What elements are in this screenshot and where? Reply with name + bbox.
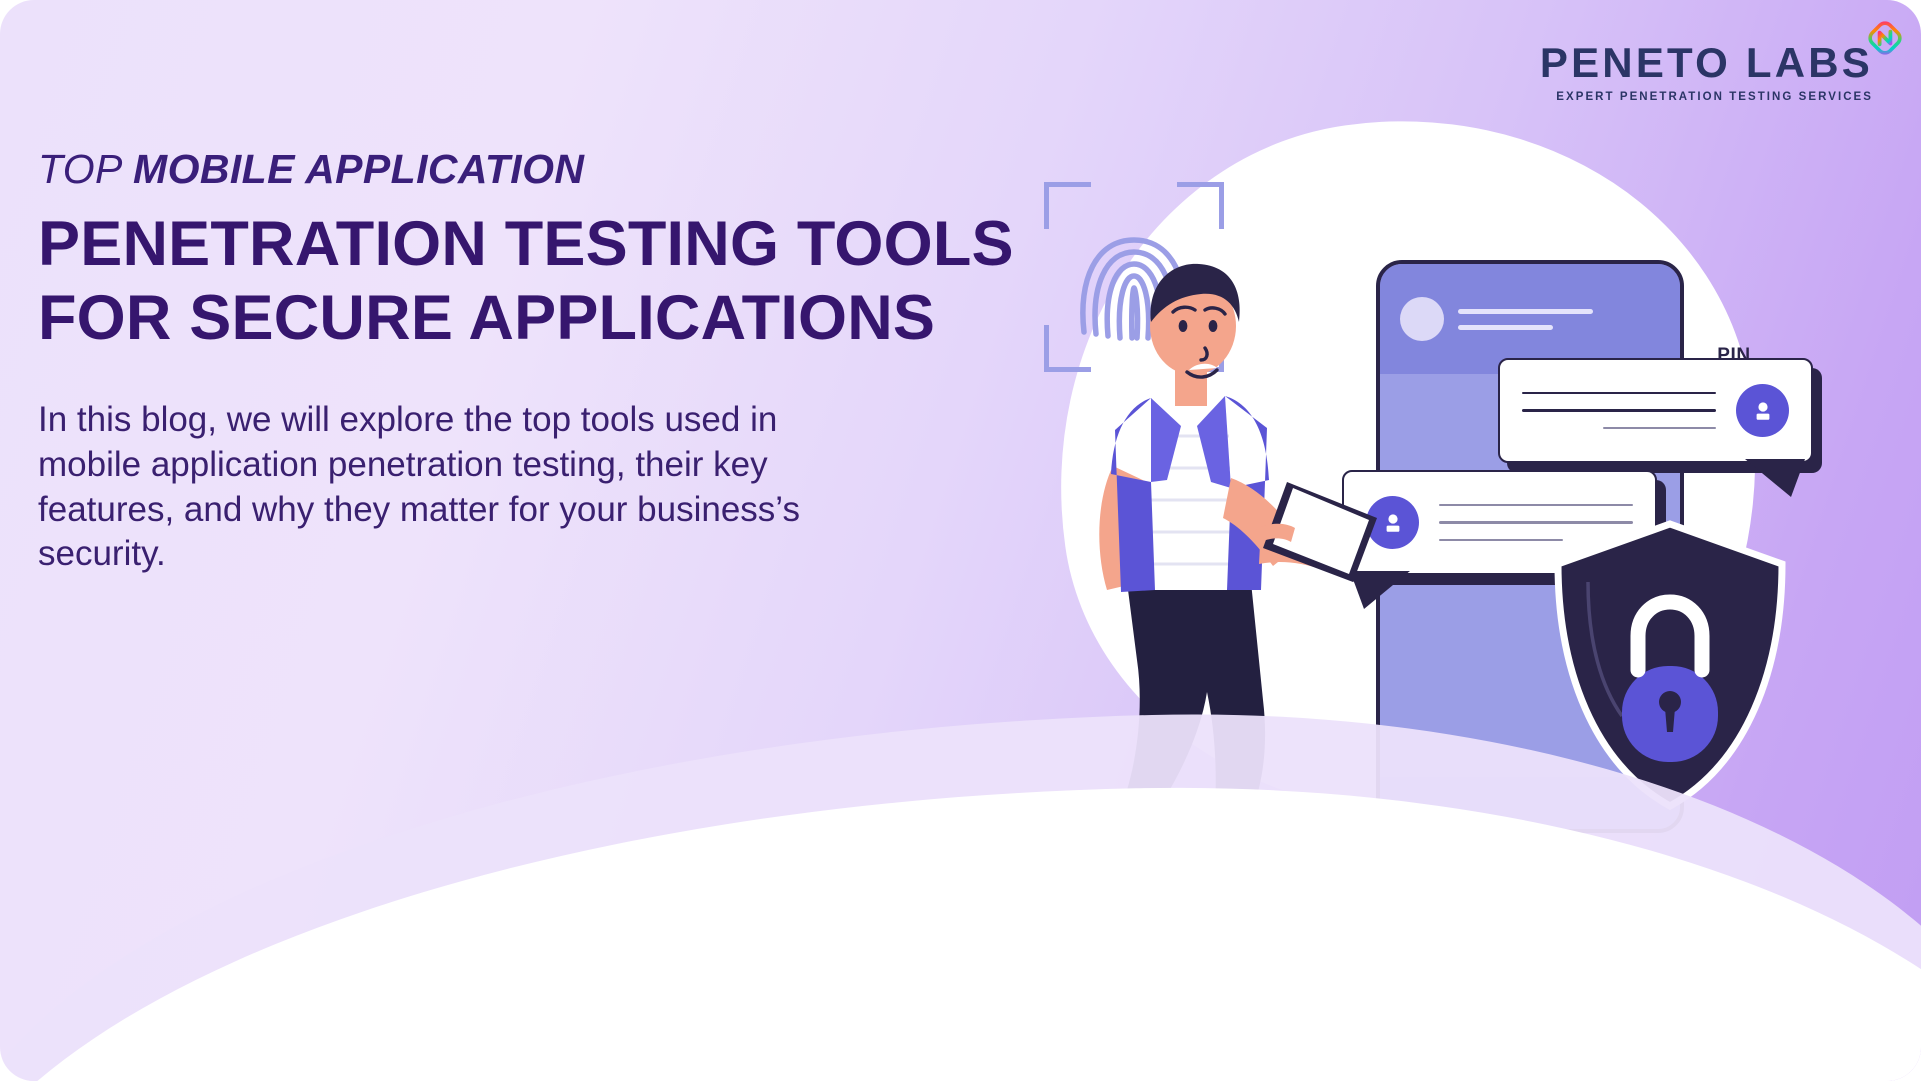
hero-eyebrow: TOP MOBILE APPLICATION	[38, 148, 1038, 191]
hero-eyebrow-regular: TOP	[38, 146, 133, 192]
chat-line	[1522, 392, 1716, 395]
chat-line	[1522, 409, 1716, 412]
phone-header-line	[1458, 325, 1553, 330]
brand-logo[interactable]: PENETO LABS EXPERT PENETRATION TESTIN	[1540, 42, 1873, 103]
chat-tail-top	[1743, 457, 1817, 501]
chat-line	[1439, 539, 1563, 542]
chat-bubble-lines	[1522, 392, 1716, 430]
phone-header-line	[1458, 309, 1593, 314]
hero-subcopy: In this blog, we will explore the top to…	[38, 398, 828, 577]
hero-eyebrow-bold: MOBILE APPLICATION	[133, 146, 584, 192]
brand-name: PENETO LABS	[1540, 42, 1873, 84]
phone-avatar-icon	[1400, 297, 1444, 341]
page-title: PENETRATION TESTING TOOLS FOR SECURE APP…	[38, 207, 1038, 356]
phone-header-lines	[1458, 309, 1593, 330]
person-icon	[1750, 398, 1776, 424]
banner-canvas: PIN ✱ ✱ ✱ ✱	[0, 0, 1921, 1081]
hero-copy: TOP MOBILE APPLICATION PENETRATION TESTI…	[38, 148, 1038, 612]
background-card: PIN ✱ ✱ ✱ ✱	[0, 0, 1921, 1081]
chat-avatar-icon	[1736, 384, 1789, 437]
chat-line	[1439, 504, 1633, 507]
peneto-gradient-arrow-icon	[1867, 20, 1903, 56]
chat-line	[1603, 427, 1716, 430]
brand-tagline: EXPERT PENETRATION TESTING SERVICES	[1540, 91, 1873, 103]
chat-bubble-top[interactable]	[1498, 358, 1813, 463]
